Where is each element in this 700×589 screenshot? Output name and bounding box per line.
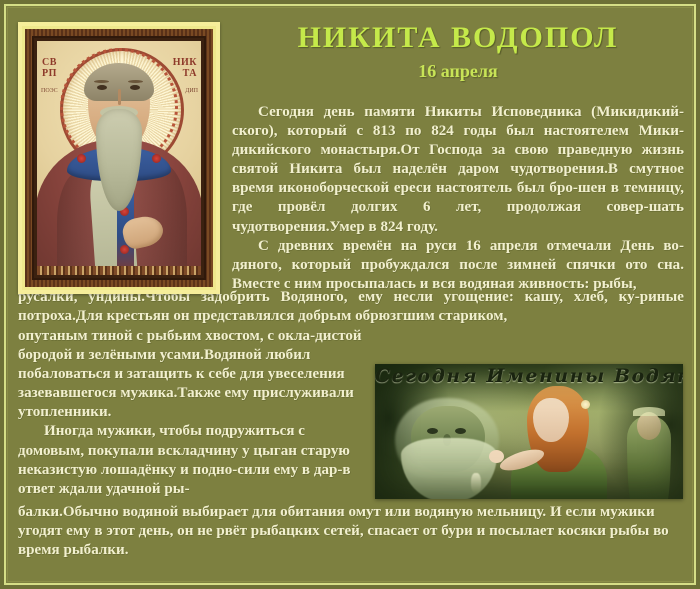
collar-gem-left — [77, 154, 86, 163]
icon-inscription-right: НИК ТА — [173, 57, 197, 79]
paragraph-vodyanoy-description: опутаным тиной с рыбьим хвостом, с окла-… — [18, 327, 366, 422]
saint-icon-frame-wood: СВ РП НИК ТА ПОЭС ДИП — [22, 26, 216, 290]
saint-icon-frame: СВ РП НИК ТА ПОЭС ДИП — [18, 22, 220, 294]
icon-inscription-small-right: ДИП — [185, 88, 198, 94]
vodyanoy-eye-left — [427, 428, 438, 434]
saint-icon-artwork: СВ РП НИК ТА ПОЭС ДИП — [37, 41, 201, 275]
icon-inscription-left: СВ РП — [42, 57, 57, 79]
saint-brow-right — [128, 80, 143, 83]
collar-gem-right — [152, 154, 161, 163]
saint-eye-left — [97, 85, 107, 90]
icon-bottom-ornament-band — [37, 266, 201, 275]
paragraph-muzhiki-domovoy: Иногда мужики, чтобы подружиться с домов… — [18, 422, 366, 498]
photo-light-glow — [471, 473, 481, 493]
page-title: НИКИТА ВОДОПОЛ — [232, 22, 684, 54]
woman-hand — [489, 450, 504, 463]
vodyanoy-eye-right — [455, 428, 466, 434]
saint-nose — [118, 89, 121, 105]
stole-gem — [120, 245, 129, 254]
poster-page: СВ РП НИК ТА ПОЭС ДИП НИКИТА ВОДОПОЛ 16 … — [0, 0, 700, 589]
text-block-full-width-lower: балки.Обычно водяной выбирает для обитан… — [18, 503, 684, 560]
photo-caption: Сегодня Именины Водяного — [375, 365, 683, 387]
woman-hair-flower — [581, 400, 590, 409]
icon-inscription-small-left: ПОЭС — [41, 88, 58, 94]
saint-icon-frame-dark: СВ РП НИК ТА ПОЭС ДИП — [32, 36, 206, 280]
page-date: 16 апреля — [232, 61, 684, 82]
header: НИКИТА ВОДОПОЛ 16 апреля — [232, 22, 684, 82]
rusalka-figure-head — [637, 412, 661, 440]
rusalka-figure-wreath — [633, 407, 665, 416]
vodyanoy-photo: Сегодня Именины Водяного — [375, 364, 683, 499]
text-column-top-right: Сегодня день памяти Никиты Исповедника (… — [232, 103, 684, 294]
saint-brow-left — [94, 80, 109, 83]
paragraph-vodyanoy-intro: С древних времён на руси 16 апреля отмеч… — [232, 237, 684, 294]
text-column-left: опутаным тиной с рыбьим хвостом, с окла-… — [18, 327, 366, 499]
saint-eye-right — [130, 85, 140, 90]
paragraph-nikita-biography: Сегодня день памяти Никиты Исповедника (… — [232, 103, 684, 237]
